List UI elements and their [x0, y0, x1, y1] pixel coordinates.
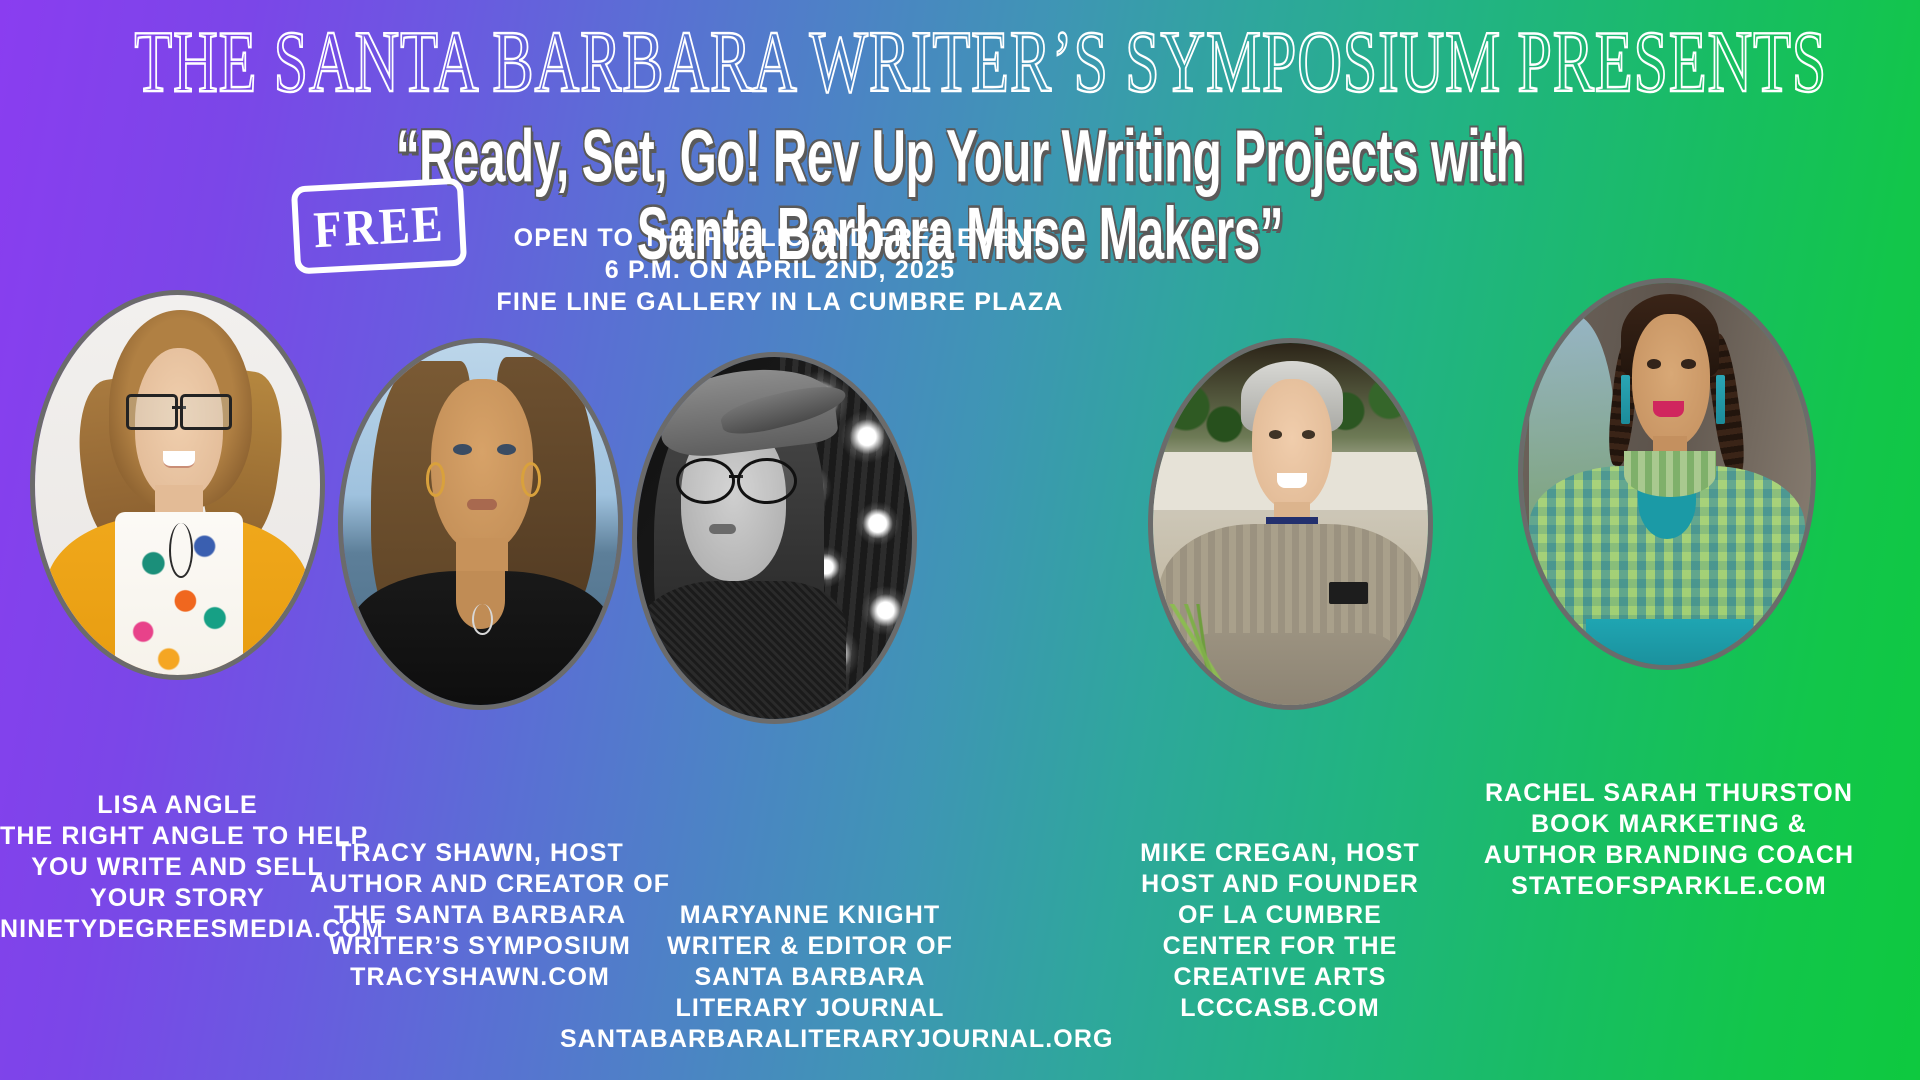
speaker-role-line: YOUR STORY [0, 883, 355, 914]
eyeglasses-icon [126, 394, 231, 424]
earring-icon [1621, 375, 1630, 425]
speaker-role-line: CENTER FOR THE [1110, 931, 1450, 962]
speaker-caption-lisa-angle: LISA ANGLE THE RIGHT ANGLE TO HELP YOU W… [0, 790, 355, 945]
speaker-photo-maryanne-knight [632, 352, 917, 724]
speaker-caption-maryanne-knight: MARYANNE KNIGHT WRITER & EDITOR OF SANTA… [560, 900, 1060, 1055]
speaker-name: TRACY SHAWN, HOST [310, 838, 650, 869]
speaker-photo-rachel-sarah-thurston [1518, 278, 1816, 670]
speaker-website[interactable]: SANTABARBARALITERARYJOURNAL.ORG [560, 1024, 1060, 1055]
speaker-photo-tracy-shawn [338, 338, 623, 710]
free-badge-label: FREE [312, 193, 446, 259]
speaker-name: LISA ANGLE [0, 790, 355, 821]
speaker-photo-lisa-angle [30, 290, 325, 680]
headline-line-1: “Ready, Set, Go! Rev Up Your Writing Pro… [396, 115, 1524, 198]
necklace-icon [472, 604, 493, 635]
speaker-role-line: THE RIGHT ANGLE TO HELP [0, 821, 355, 852]
event-datetime-line: 6 P.M. ON APRIL 2ND, 2025 [430, 254, 1130, 286]
presenter-title: THE SANTA BARBARA WRITER’S SYMPOSIUM PRE… [134, 18, 1785, 106]
speaker-caption-rachel-sarah-thurston: RACHEL SARAH THURSTON BOOK MARKETING & A… [1478, 778, 1860, 902]
event-poster: THE SANTA BARBARA WRITER’S SYMPOSIUM PRE… [0, 0, 1920, 1080]
speaker-website[interactable]: STATEOFSPARKLE.COM [1478, 871, 1860, 902]
speaker-role-line: AUTHOR AND CREATOR OF [310, 869, 650, 900]
speaker-name: MARYANNE KNIGHT [560, 900, 1060, 931]
speaker-name: MIKE CREGAN, HOST [1110, 838, 1450, 869]
event-admission-line: OPEN TO THE PUBLIC AND FREE EVENT [430, 222, 1130, 254]
speaker-role-line: CREATIVE ARTS [1110, 962, 1450, 993]
portrait-illustration [1523, 283, 1811, 665]
speaker-role-line: BOOK MARKETING & [1478, 809, 1860, 840]
speaker-website[interactable]: LCCCASB.COM [1110, 993, 1450, 1024]
portrait-illustration [35, 295, 320, 675]
event-details: OPEN TO THE PUBLIC AND FREE EVENT 6 P.M.… [430, 222, 1130, 318]
earring-icon [1716, 375, 1725, 425]
speaker-role-line: LITERARY JOURNAL [560, 993, 1060, 1024]
speaker-role-line: OF LA CUMBRE [1110, 900, 1450, 931]
speaker-name: RACHEL SARAH THURSTON [1478, 778, 1860, 809]
speaker-role-line: AUTHOR BRANDING COACH [1478, 840, 1860, 871]
portrait-illustration [343, 343, 618, 705]
speaker-photo-mike-cregan [1148, 338, 1433, 710]
eyeglasses-icon [676, 458, 797, 498]
portrait-illustration [1153, 343, 1428, 705]
event-venue-line: FINE LINE GALLERY IN LA CUMBRE PLAZA [430, 286, 1130, 318]
speaker-caption-mike-cregan: MIKE CREGAN, HOST HOST AND FOUNDER OF LA… [1110, 838, 1450, 1024]
speaker-role-line: YOU WRITE AND SELL [0, 852, 355, 883]
portrait-illustration [637, 357, 912, 719]
speaker-website[interactable]: NINETYDEGREESMEDIA.COM [0, 914, 355, 945]
speaker-role-line: SANTA BARBARA [560, 962, 1060, 993]
speaker-role-line: HOST AND FOUNDER [1110, 869, 1450, 900]
beaded-necklace-icon [1624, 451, 1716, 497]
speaker-role-line: WRITER & EDITOR OF [560, 931, 1060, 962]
